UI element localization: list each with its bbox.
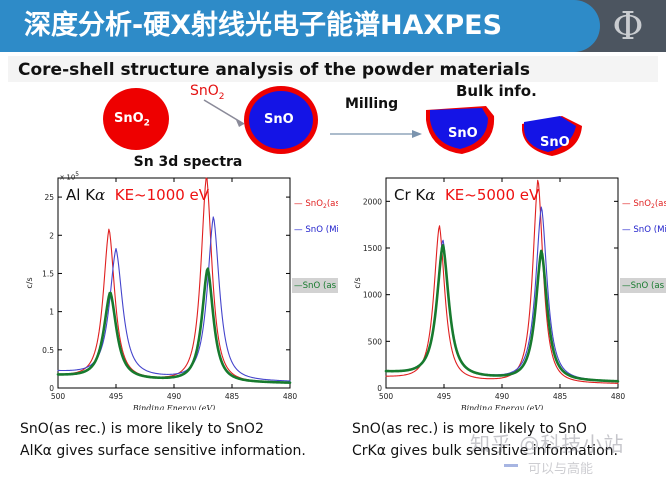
particle-sno2-label-text: SnO xyxy=(114,111,144,126)
chart-left-y-exponent: x 105 xyxy=(60,172,79,181)
milling-arrow-icon xyxy=(330,128,426,140)
svg-text:1500: 1500 xyxy=(363,244,382,253)
phi-logo-icon: Φ xyxy=(606,4,650,48)
svg-text:—SnO (as rec.): —SnO (as rec.) xyxy=(294,281,338,291)
svg-text:—SnO (as rec.): —SnO (as rec.) xyxy=(622,281,666,291)
chart-left-ke: KE~1000 eV xyxy=(115,186,209,204)
svg-text:490: 490 xyxy=(167,392,182,401)
svg-text:495: 495 xyxy=(437,392,452,401)
bulk-info-label: Bulk info. xyxy=(456,82,537,100)
svg-text:Binding Energy (eV): Binding Energy (eV) xyxy=(132,404,216,410)
chart-cr-kalpha: Cr Kα KE~5000 eV 50049549048548005001000… xyxy=(336,160,666,410)
svg-text:480: 480 xyxy=(283,392,298,401)
footer-right-line-1: SnO(as rec.) is more likely to SnO xyxy=(352,418,618,440)
particle-sno-core-label: SnO xyxy=(264,112,294,127)
chart-left-source: Al K xyxy=(66,186,95,204)
particle-fragment-1-label: SnO xyxy=(448,126,478,141)
svg-text:c/s: c/s xyxy=(353,277,362,288)
slide-title-bar: 深度分析-硬X射线光电子能谱HAXPES Φ xyxy=(0,0,666,52)
svg-text:500: 500 xyxy=(379,392,394,401)
chart-left-source-alpha: α xyxy=(95,186,105,204)
footer-left-line-2: AlKα gives surface sensitive information… xyxy=(20,440,306,462)
svg-text:1: 1 xyxy=(49,308,54,317)
svg-text:480: 480 xyxy=(611,392,626,401)
footer-conclusion-left: SnO(as rec.) is more likely to SnO2 AlKα… xyxy=(20,418,306,462)
svg-text:0.5: 0.5 xyxy=(42,346,54,355)
svg-text:Binding Energy (eV): Binding Energy (eV) xyxy=(460,404,544,410)
svg-text:495: 495 xyxy=(109,392,124,401)
particle-sno2-label: SnO2 xyxy=(114,111,150,129)
svg-text:490: 490 xyxy=(495,392,510,401)
svg-text:1000: 1000 xyxy=(363,291,382,300)
svg-text:500: 500 xyxy=(368,337,383,346)
svg-text:0: 0 xyxy=(377,384,382,393)
particle-sno2-label-sub: 2 xyxy=(144,119,150,129)
svg-text:500: 500 xyxy=(51,392,66,401)
milling-process-label: Milling xyxy=(345,96,398,112)
svg-text:— SnO2(as rec.): — SnO2(as rec.) xyxy=(622,199,666,210)
svg-text:— SnO (Miling): — SnO (Miling) xyxy=(622,225,666,235)
core-shell-diagram: SnO2 SnO2 SnO Milling Bulk info. SnO SnO xyxy=(0,84,666,164)
svg-text:485: 485 xyxy=(553,392,568,401)
footer-conclusion-right: SnO(as rec.) is more likely to SnO CrKα … xyxy=(352,418,618,462)
page-title: 深度分析-硬X射线光电子能谱HAXPES xyxy=(24,2,584,50)
svg-text:c/s: c/s xyxy=(25,277,34,288)
chart-left-exp-base: x 10 xyxy=(60,173,75,181)
chart-left-condition: Al Kα KE~1000 eV xyxy=(66,186,209,204)
next-slide-peek-dash xyxy=(504,464,518,467)
next-slide-peek-text: 可以与高能 xyxy=(528,458,593,477)
svg-text:1.5: 1.5 xyxy=(42,269,54,278)
svg-text:2000: 2000 xyxy=(363,197,382,206)
svg-text:25: 25 xyxy=(44,193,54,202)
chart-al-kalpha: Sn 3d spectra x 105 Al Kα KE~1000 eV 500… xyxy=(8,160,338,410)
particle-fragment-2-label: SnO xyxy=(540,135,570,150)
footer-left-line-1: SnO(as rec.) is more likely to SnO2 xyxy=(20,418,306,440)
chart-left-exp-power: 5 xyxy=(75,172,79,178)
slide-subtitle: Core-shell structure analysis of the pow… xyxy=(18,58,530,82)
chart-right-ke: KE~5000 eV xyxy=(445,186,539,204)
svg-text:0: 0 xyxy=(49,384,54,393)
svg-text:485: 485 xyxy=(225,392,240,401)
svg-text:— SnO (Miling): — SnO (Miling) xyxy=(294,225,338,235)
chart-right-source-alpha: α xyxy=(425,186,435,204)
svg-text:2: 2 xyxy=(49,231,54,240)
svg-text:— SnO2(as rec.): — SnO2(as rec.) xyxy=(294,199,338,210)
shell-annotation-text: SnO xyxy=(190,83,219,99)
chart-right-condition: Cr Kα KE~5000 eV xyxy=(394,186,539,204)
chart-right-source: Cr K xyxy=(394,186,425,204)
chart-left-suptitle: Sn 3d spectra xyxy=(108,154,268,170)
